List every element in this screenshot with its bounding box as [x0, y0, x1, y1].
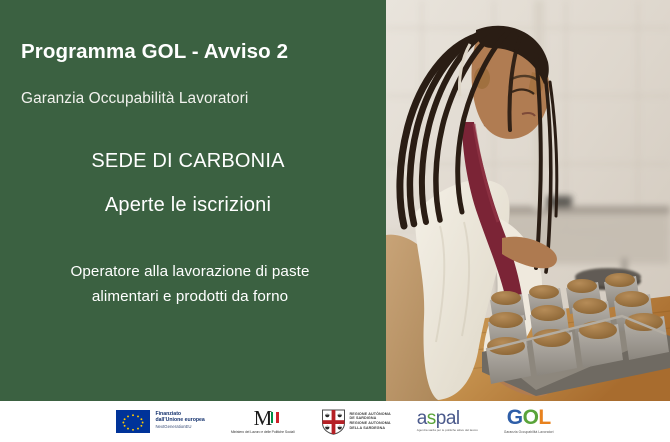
logo-row: Finanziato dall'Unione europea NextGener…	[0, 401, 670, 441]
eu-line-3: NextGenerationEU	[155, 425, 204, 430]
gol-caption: Garanzia Occupabilità Lavoratori	[504, 430, 554, 434]
regione-sardegna-logo: REGIONE AUTÒNOMA DE SARDIGNA REGIONE AUT…	[321, 408, 391, 435]
aspal-letter-a: a	[417, 408, 427, 429]
aspal-letters-pal: pal	[436, 408, 460, 429]
italian-tricolor-icon	[271, 412, 279, 423]
aspal-wordmark: aspal	[417, 410, 460, 428]
eu-text-block: Finanziato dall'Unione europea NextGener…	[155, 412, 204, 429]
page-title: Programma GOL - Avviso 2	[21, 40, 361, 64]
four-moors-shield-icon	[321, 408, 346, 435]
page-subtitle: Garanzia Occupabilità Lavoratori	[21, 90, 366, 108]
headline-block: SEDE DI CARBONIA Aperte le iscrizioni	[0, 148, 376, 218]
eu-flag-icon	[116, 410, 150, 433]
course-description: Operatore alla lavorazione di paste alim…	[12, 259, 368, 309]
eu-flag-logo: Finanziato dall'Unione europea NextGener…	[116, 410, 204, 433]
poster-canvas: Programma GOL - Avviso 2 Garanzia Occupa…	[0, 0, 670, 442]
bakery-photo	[386, 0, 670, 401]
course-line-1: Operatore alla lavorazione di paste	[12, 259, 368, 284]
gol-letter-g: G	[507, 408, 523, 428]
regione-sardegna-text: REGIONE AUTÒNOMA DE SARDIGNA REGIONE AUT…	[350, 412, 391, 431]
aspal-letter-s: s	[427, 408, 436, 429]
aspal-caption: Agenzia sarda per le politiche attive de…	[417, 429, 478, 433]
gol-logo: G O L Garanzia Occupabilità Lavoratori	[504, 408, 554, 434]
ministero-m-mark: M	[254, 409, 272, 428]
eu-stars-icon	[116, 410, 150, 433]
green-content-panel: Programma GOL - Avviso 2 Garanzia Occupa…	[0, 0, 386, 401]
footer-logo-bar: Finanziato dall'Unione europea NextGener…	[0, 401, 670, 442]
gol-wordmark: G O L	[507, 408, 551, 428]
bakery-photo-illustration	[386, 0, 670, 401]
gol-letter-l: L	[538, 408, 550, 428]
headline-enrollment: Aperte le iscrizioni	[0, 192, 376, 218]
gol-letter-o: O	[523, 408, 539, 428]
headline-location: SEDE DI CARBONIA	[0, 148, 376, 174]
course-line-2: alimentari e prodotti da forno	[12, 284, 368, 309]
ras-line-4: DELLA SARDEGNA	[350, 426, 391, 431]
aspal-logo: aspal Agenzia sarda per le politiche att…	[417, 410, 478, 433]
ministero-lavoro-logo: M Ministero del Lavoro e delle Politiche…	[231, 409, 295, 434]
ministero-caption: Ministero del Lavoro e delle Politiche S…	[231, 430, 295, 434]
